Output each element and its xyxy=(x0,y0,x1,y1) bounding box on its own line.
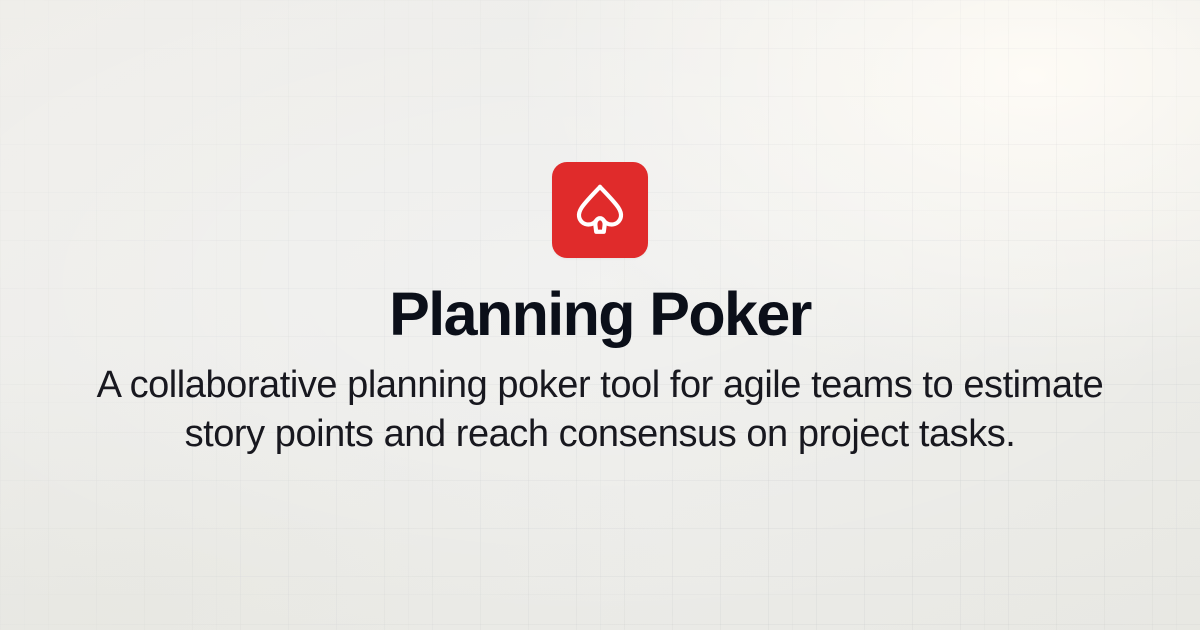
og-card: Planning Poker A collaborative planning … xyxy=(0,0,1200,630)
spade-icon xyxy=(571,181,629,239)
page-subtitle: A collaborative planning poker tool for … xyxy=(85,361,1115,460)
app-logo xyxy=(552,162,648,258)
hero-content: Planning Poker A collaborative planning … xyxy=(50,162,1150,467)
page-title: Planning Poker xyxy=(389,282,811,347)
